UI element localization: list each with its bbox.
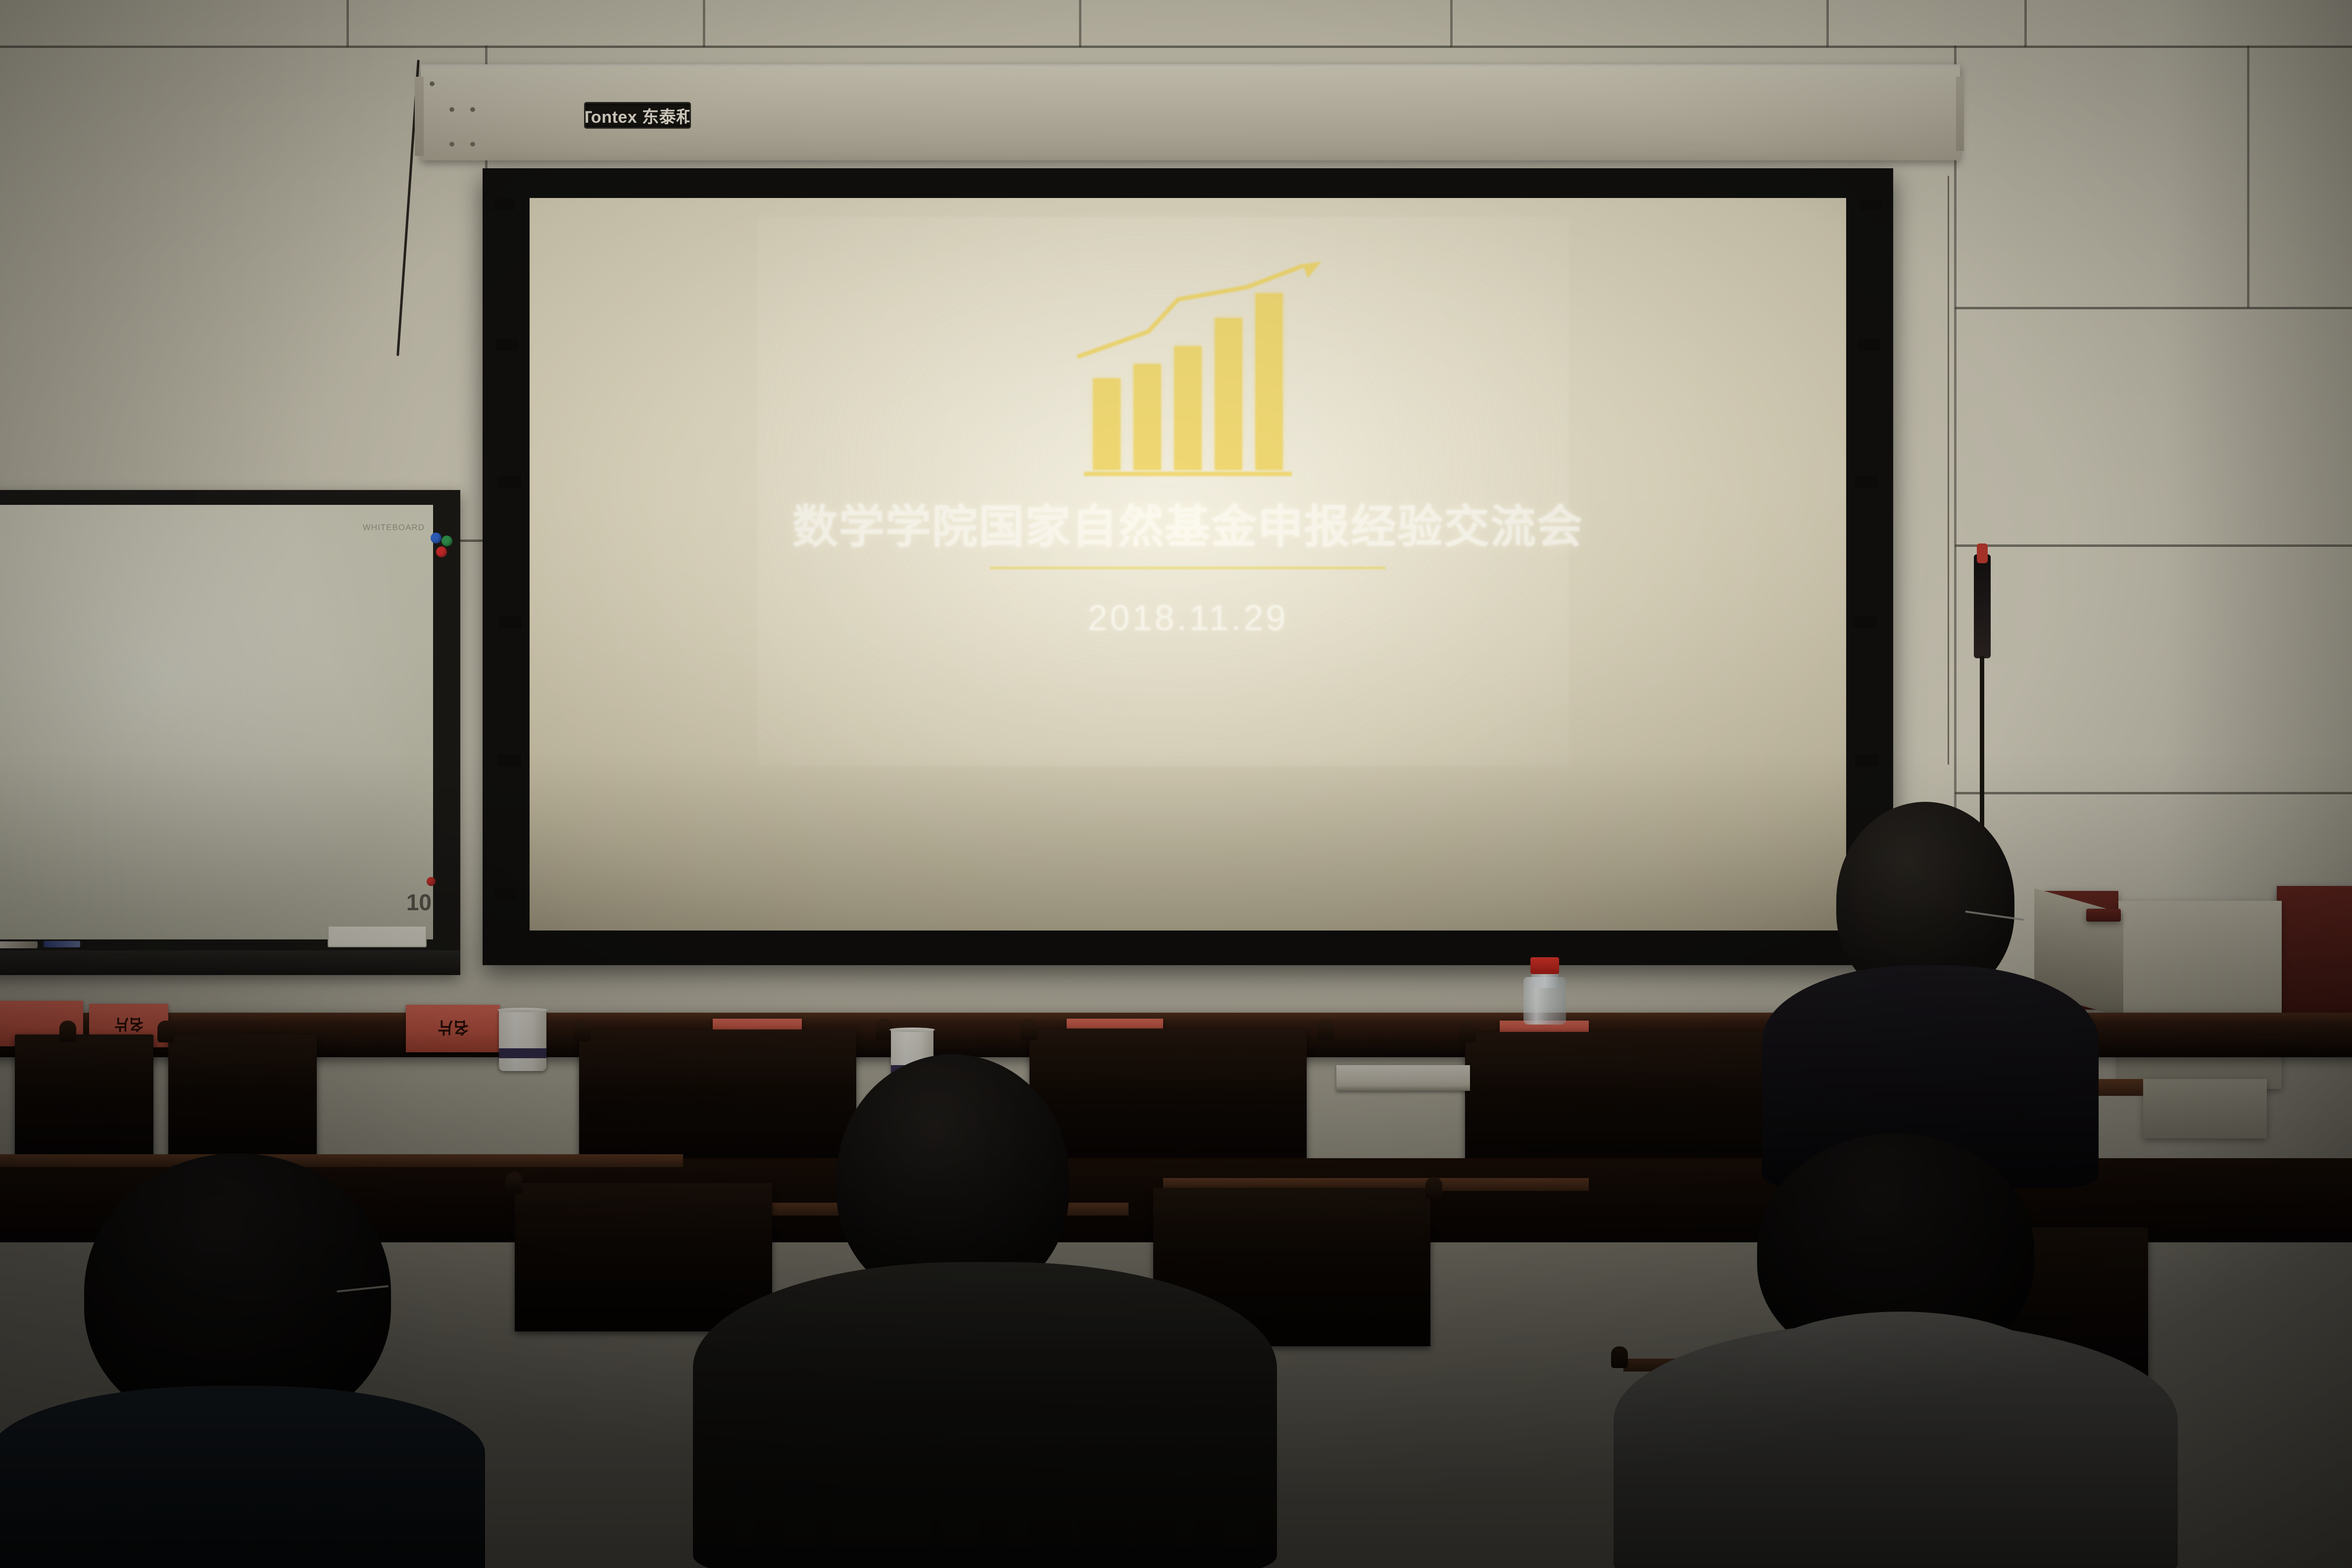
- whiteboard-marker[interactable]: [44, 941, 80, 947]
- case-screw: [449, 142, 454, 147]
- name-card-text: 名片: [114, 1015, 144, 1036]
- lecture-hall-photo: Tontex 东泰和: [0, 0, 2352, 1568]
- wall-seam: [346, 0, 349, 47]
- slide-title: 数学学院国家自然基金申报经验交流会: [792, 490, 1583, 556]
- whiteboard-marker[interactable]: [0, 941, 38, 948]
- wall-seam: [1079, 0, 1081, 47]
- chart-trend-arrow: [802, 257, 1574, 470]
- audience-member-right-mid: [1752, 802, 2099, 1168]
- chair-knob: [1317, 1019, 1333, 1040]
- slide-title-underline: [990, 567, 1386, 569]
- brand-plate-text: Tontex 东泰和: [584, 103, 691, 128]
- case-screw: [470, 107, 475, 112]
- screen-tension-snap: [494, 888, 517, 900]
- magnet-blue[interactable]: [431, 533, 441, 543]
- cup-rim: [889, 1028, 935, 1032]
- chair-back[interactable]: [168, 1034, 317, 1158]
- whiteboard-frame: WHITEBOARD 10: [0, 490, 460, 975]
- torso: [0, 1386, 485, 1568]
- magnet-red[interactable]: [436, 546, 447, 557]
- wall-seam: [2247, 46, 2250, 308]
- screen-tension-snap: [1855, 476, 1878, 488]
- name-card-text: 名片: [437, 1017, 469, 1040]
- whiteboard-tray: [0, 950, 460, 975]
- coat-hood: [1742, 1312, 2059, 1440]
- right-cabinet-far: [2277, 886, 2352, 1015]
- screen-tension-snap: [497, 755, 521, 767]
- slide-chart: [802, 257, 1574, 470]
- projector-screen-case: Tontex 东泰和: [421, 64, 1960, 160]
- wall-seam: [703, 0, 705, 47]
- name-card: 名片: [406, 1005, 500, 1052]
- screen-tension-snap: [495, 339, 518, 351]
- screen-tension-snap: [1855, 755, 1878, 767]
- wall-seam: [1450, 0, 1453, 47]
- chair-knob: [1425, 1177, 1442, 1199]
- wall-seam: [1955, 307, 2352, 309]
- wall-seam: [1826, 0, 1829, 47]
- right-equipment-panel: [2118, 901, 2282, 1089]
- magnet-green[interactable]: [441, 536, 452, 546]
- projection-screen-frame: 数学学院国家自然基金申报经验交流会 2018.11.29: [483, 168, 1893, 965]
- torso: [693, 1262, 1277, 1568]
- chair-knob: [1459, 1021, 1476, 1042]
- water-bottle: [1523, 955, 1566, 1025]
- chair-knob: [1021, 1019, 1037, 1040]
- whiteboard-mark: 10: [406, 889, 432, 916]
- screen-brand-plate: Tontex 东泰和: [584, 102, 691, 129]
- chair-knob: [506, 1172, 523, 1194]
- slide-date: 2018.11.29: [1087, 598, 1288, 638]
- case-right-bracket: [1956, 77, 1964, 151]
- chair-knob: [157, 1021, 174, 1042]
- slide-content: 数学学院国家自然基金申报经验交流会 2018.11.29: [802, 257, 1574, 638]
- wall-seam: [2024, 0, 2027, 47]
- screen-tension-snap: [498, 616, 522, 628]
- chair-knob: [574, 1020, 591, 1041]
- cup-band: [499, 1048, 546, 1058]
- papers-edge: [1336, 1086, 1470, 1091]
- right-equipment-base: [2143, 1079, 2267, 1138]
- wall-seam: [0, 46, 2352, 48]
- audience-member-left-front: [0, 1153, 485, 1568]
- wall-tool-red-tip: [1977, 543, 1988, 563]
- projection-screen-surface: 数学学院国家自然基金申报经验交流会 2018.11.29: [530, 198, 1846, 931]
- whiteboard-eraser[interactable]: [328, 926, 427, 947]
- audience-member-center-front: [693, 1054, 1277, 1568]
- wall-mounted-tool: [1974, 554, 1991, 658]
- audience-member-right-front: [1594, 1133, 2178, 1568]
- screen-tension-snap: [493, 199, 515, 210]
- bottle-cap: [1530, 957, 1559, 974]
- case-screw: [430, 81, 435, 86]
- screen-tension-snap: [1854, 616, 1877, 628]
- chair-back[interactable]: [15, 1034, 153, 1163]
- case-left-bracket: [415, 77, 424, 156]
- screen-tension-snap: [1858, 339, 1880, 351]
- papers-on-desk: [1336, 1065, 1470, 1091]
- case-screw: [449, 107, 454, 112]
- screen-tension-snap: [497, 476, 521, 488]
- chair-knob: [59, 1021, 76, 1042]
- chart-baseline: [1084, 472, 1292, 476]
- wall-seam: [1955, 544, 2352, 547]
- whiteboard-surface[interactable]: [0, 505, 433, 939]
- case-screw: [470, 142, 475, 147]
- magnet-red-lower[interactable]: [427, 877, 436, 886]
- whiteboard-brand-tag: WHITEBOARD: [363, 523, 425, 533]
- cup-rim: [497, 1008, 548, 1012]
- wall-seam: [1955, 792, 2352, 794]
- screen-tension-snap: [1861, 199, 1882, 210]
- screen-hanging-cable: [1948, 176, 1949, 765]
- paper-cup: [499, 1010, 546, 1071]
